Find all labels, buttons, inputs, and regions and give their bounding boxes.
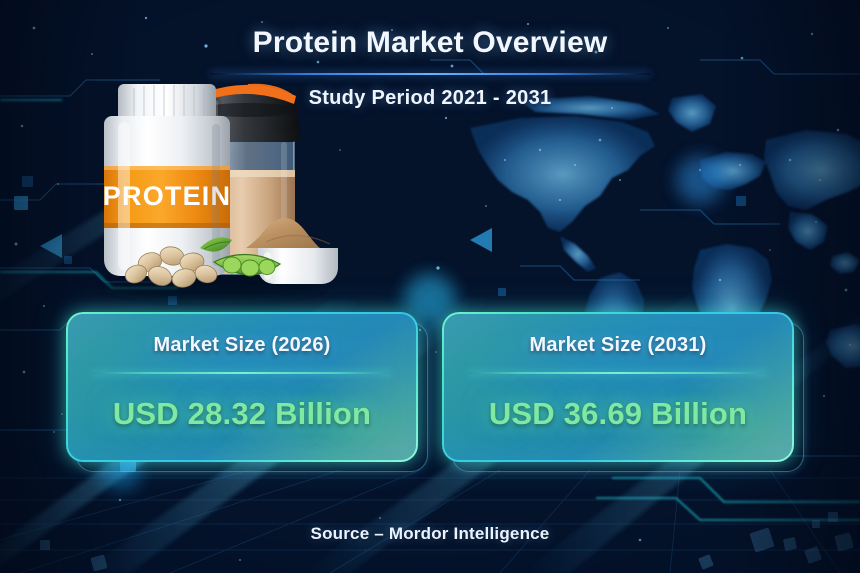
stat-card-label: Market Size (2026)	[153, 334, 330, 357]
infographic-root: PROTEIN	[0, 0, 860, 573]
stat-card-2026: Market Size (2026) USD 28.32 Billion	[66, 312, 418, 462]
card-divider	[92, 372, 392, 374]
stat-card-label: Market Size (2031)	[529, 334, 706, 357]
card-divider	[468, 372, 768, 374]
source-attribution: Source – Mordor Intelligence	[0, 524, 860, 544]
title-underline-accent	[210, 73, 650, 75]
stat-card-2031: Market Size (2031) USD 36.69 Billion	[442, 312, 794, 462]
stat-cards-container: Market Size (2026) USD 28.32 Billion Mar…	[0, 312, 860, 472]
header: Protein Market Overview Study Period 202…	[0, 26, 860, 110]
stat-card-value: USD 36.69 Billion	[489, 396, 747, 432]
page-title: Protein Market Overview	[0, 26, 860, 60]
study-period-subtitle: Study Period 2021 - 2031	[0, 87, 860, 110]
stat-card-value: USD 28.32 Billion	[113, 396, 371, 432]
